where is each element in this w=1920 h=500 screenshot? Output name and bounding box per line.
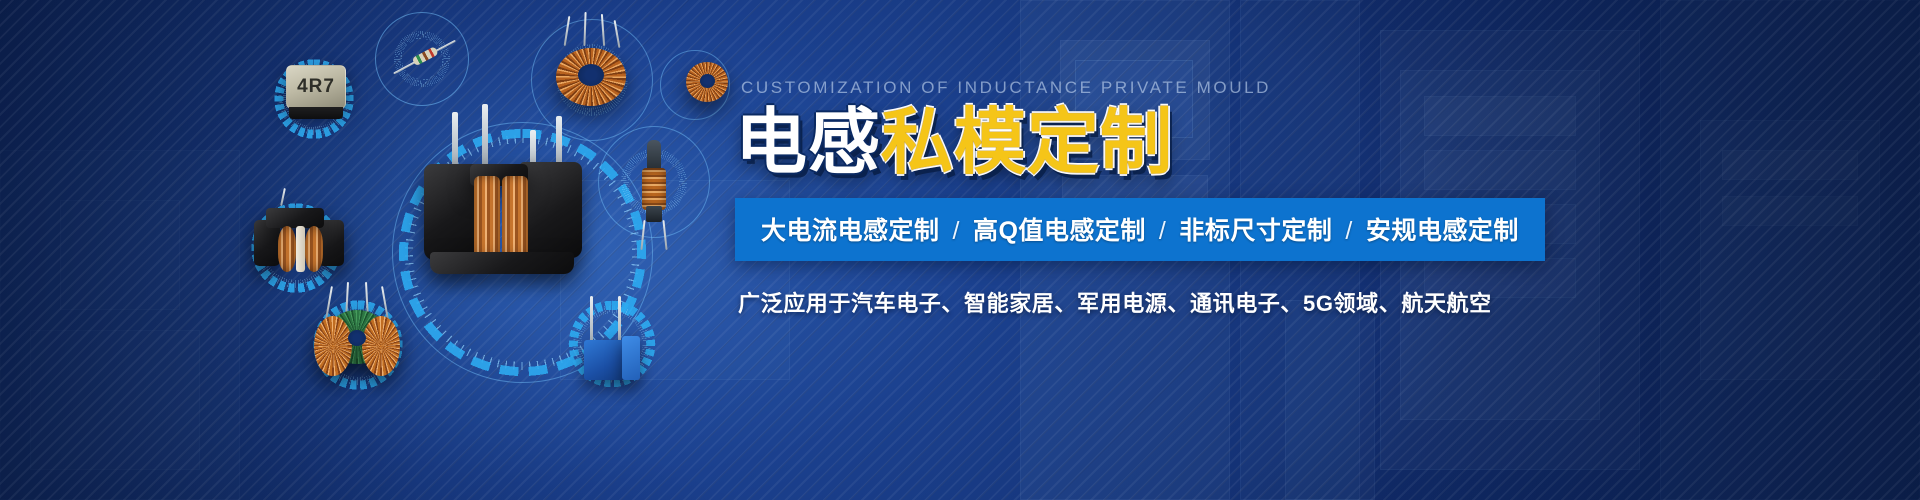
product-flatwire-choke	[252, 200, 346, 286]
smd-chip-body: 4R7	[286, 65, 346, 109]
service-item-4[interactable]: 安规电感定制	[1366, 217, 1519, 245]
product-green-toroid-choke	[312, 300, 404, 388]
flatwire-copper-winding-b	[305, 226, 323, 272]
page-title: 电感私模定制	[735, 107, 1735, 180]
choke-copper-winding-a	[474, 176, 500, 264]
toroid-core-hole-top	[578, 64, 604, 86]
rod-lead-left	[640, 220, 645, 250]
smd-chip-marking: 4R7	[297, 76, 335, 98]
product-rod-coil-inductor	[630, 140, 678, 250]
flatwire-copper-winding-a	[278, 226, 296, 272]
green-toroid-copper-right	[362, 316, 400, 376]
product-blue-radial-inductor	[578, 296, 648, 392]
rod-lead-right	[662, 220, 667, 250]
services-bar: 大电流电感定制/高Q值电感定制/非标尺寸定制/安规电感定制	[735, 198, 1545, 261]
service-item-3[interactable]: 非标尺寸定制	[1179, 217, 1332, 245]
choke-copper-winding-b	[502, 176, 528, 264]
banner-copy: CUSTOMIZATION OF INDUCTANCE PRIVATE MOUL…	[735, 78, 1735, 318]
green-toroid-copper-left	[314, 316, 352, 376]
product-toroid-choke-top	[552, 40, 632, 114]
choke-pin-2	[482, 104, 488, 170]
blue-part-body-side	[622, 336, 640, 380]
services-list: 大电流电感定制/高Q值电感定制/非标尺寸定制/安规电感定制	[761, 217, 1519, 245]
axial-body	[412, 46, 439, 66]
headline-gold-part: 私模定制	[881, 103, 1173, 183]
service-item-1[interactable]: 大电流电感定制	[761, 217, 940, 245]
product-partial-toroid-right-hole	[700, 74, 715, 88]
headline-white-part: 电感	[735, 103, 881, 183]
rod-copper-winding	[642, 168, 666, 210]
green-toroid-hole	[348, 330, 366, 346]
flatwire-top-cap	[266, 208, 324, 228]
product-smd-inductor-4r7: 4R7	[286, 65, 346, 117]
application-text: 广泛应用于汽车电子、智能家居、军用电源、通讯电子、5G领域、航天航空	[738, 286, 1735, 318]
service-separator-3: /	[1332, 217, 1365, 245]
product-large-common-mode-choke	[418, 112, 588, 292]
choke-base	[430, 252, 574, 274]
service-separator-2: /	[1146, 217, 1179, 245]
service-item-2[interactable]: 高Q值电感定制	[973, 217, 1146, 245]
english-tagline: CUSTOMIZATION OF INDUCTANCE PRIVATE MOUL…	[741, 78, 1735, 98]
inductance-promo-banner: 4R7	[0, 0, 1920, 500]
service-separator-1: /	[940, 217, 973, 245]
choke-housing-right	[520, 162, 582, 258]
